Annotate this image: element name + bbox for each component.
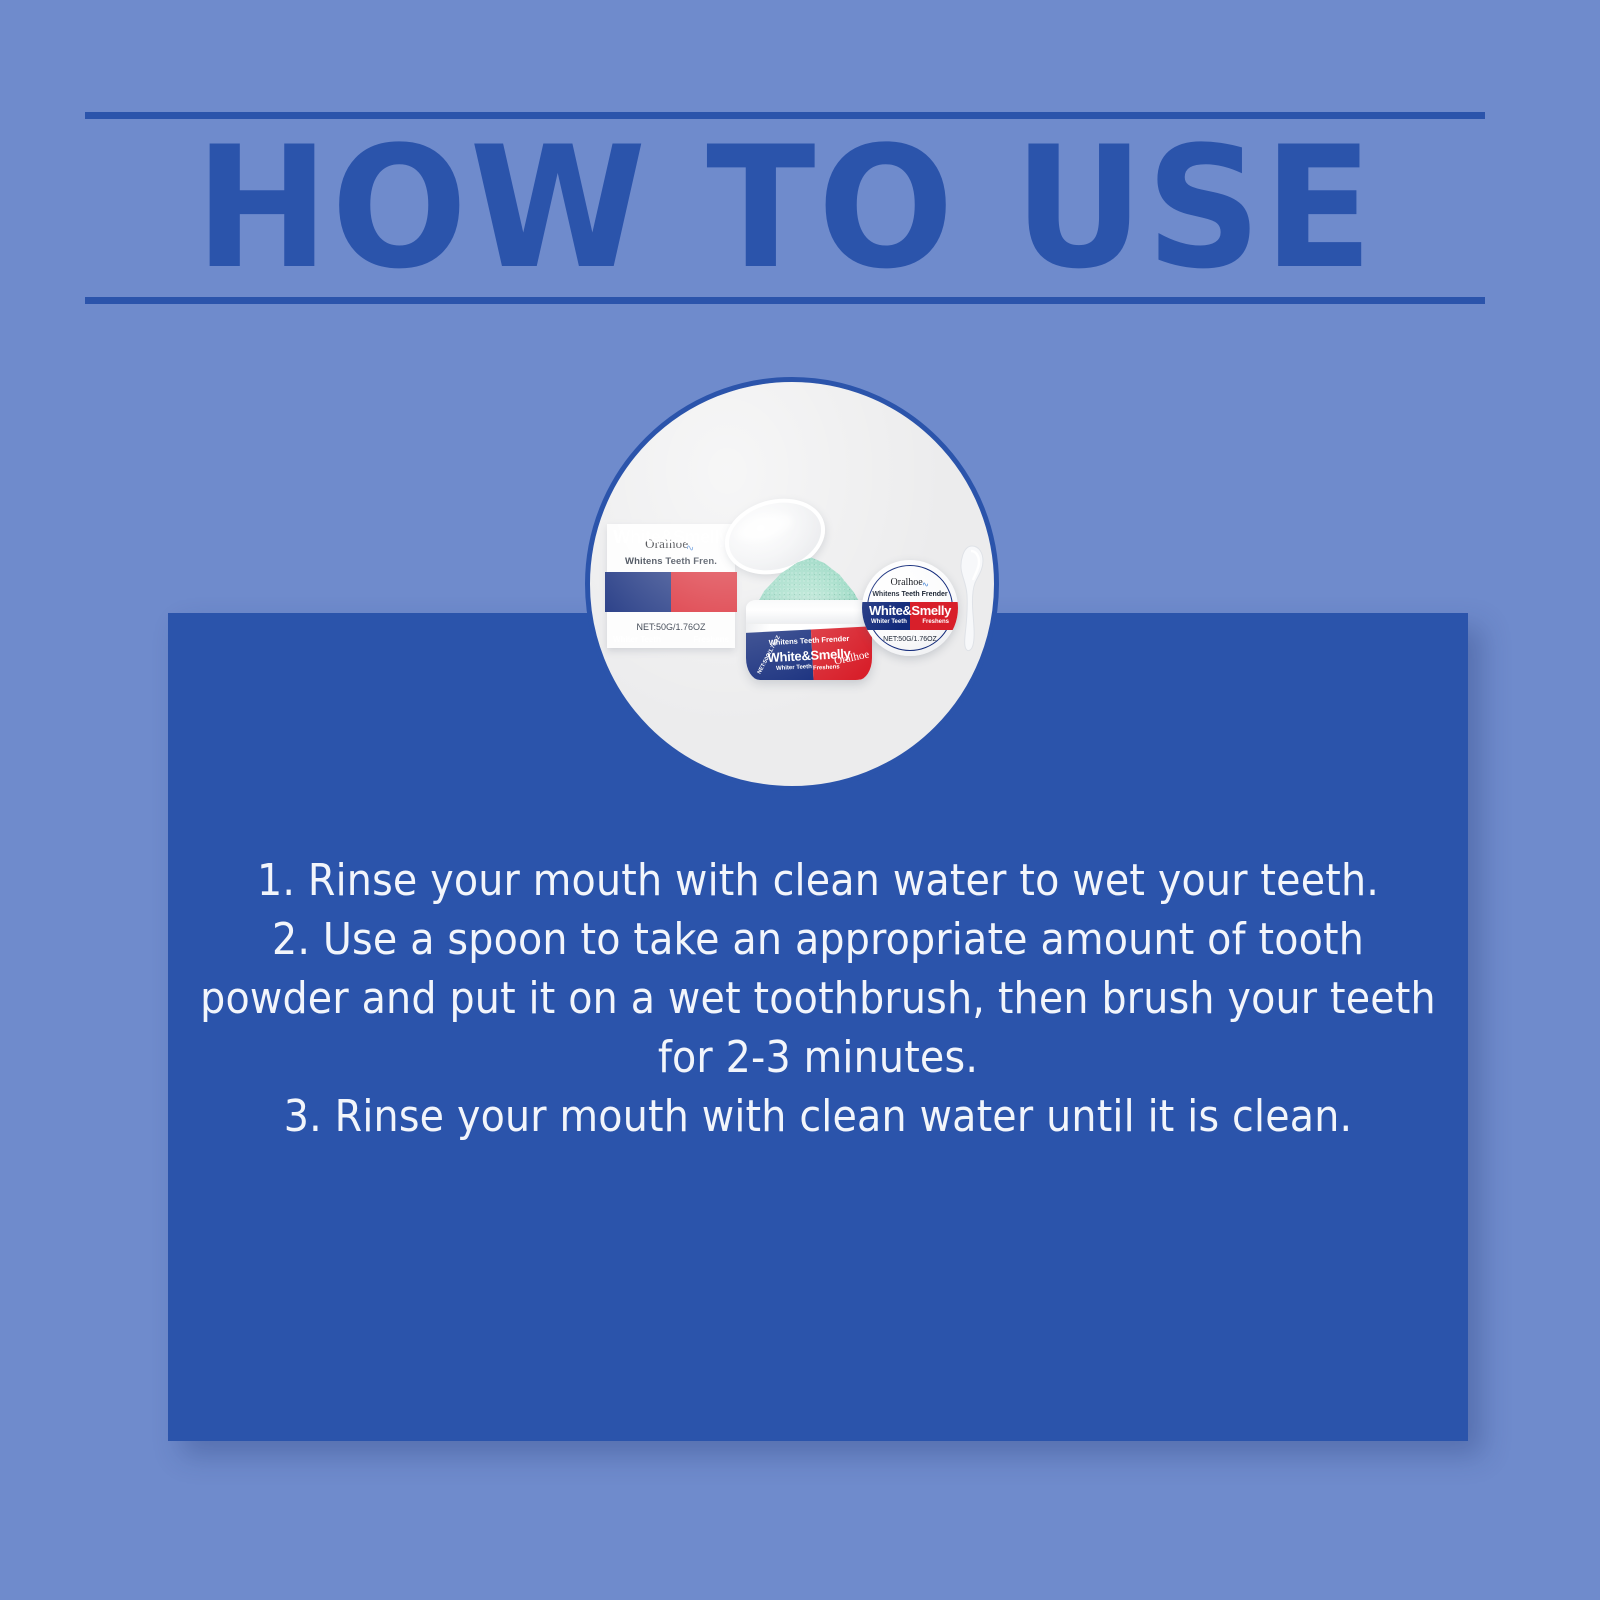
tin-brand-label: Oralhoe∿ [862,577,958,588]
instructions-text: 1. Rinse your mouth with clean water to … [168,851,1468,1146]
tin-net-weight: NET:50G/1.76OZ [862,636,958,643]
carton-band-right-label: Freshens [693,635,729,644]
product-photo: Oralhoe∿ Whitens Teeth Fren. White&Smell… [590,382,994,786]
product-image-circle: Oralhoe∿ Whitens Teeth Fren. White&Smell… [585,377,999,791]
product-carton: Oralhoe∿ Whitens Teeth Fren. White&Smell… [607,524,735,648]
carton-net-weight: NET:50G/1.76OZ [607,622,735,632]
tin-subtitle: Whitens Teeth Frender [862,591,958,598]
page-title: HOW TO USE [43,120,1527,297]
carton-subtitle: Whitens Teeth Fren. [607,556,735,567]
brand-swash-icon: ∿ [921,579,929,589]
product-tin: Oralhoe∿ Whitens Teeth Frender White&Sme… [862,560,958,656]
jar-body: Whitens Teeth Frender White&Smelly White… [746,600,872,680]
page-header: HOW TO USE [85,112,1485,304]
tin-band-left-label: Whiter Teeth [871,619,907,625]
spatula-icon [958,544,986,654]
carton-band-title: White&Smelly [607,527,735,548]
carton-band-red-half [671,572,737,612]
header-bottom-divider [85,297,1485,304]
carton-band-left-label: Whiter Teeth [613,635,661,644]
carton-band-navy-half [605,572,671,612]
tin-band-right-label: Freshens [922,619,949,625]
carton-color-band [605,572,737,612]
jar-rim [746,600,872,624]
tin-band-title: White&Smelly [862,603,958,618]
